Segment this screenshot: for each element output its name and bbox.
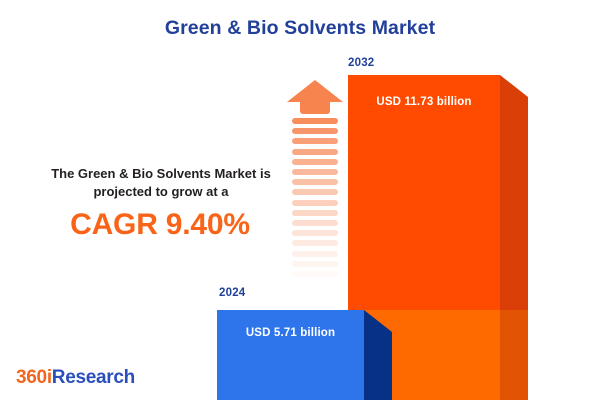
arrow-stripe — [292, 230, 338, 236]
arrow-stripe — [292, 261, 338, 267]
arrow-stripe — [292, 240, 338, 246]
arrow-head-neck — [300, 101, 330, 114]
arrow-stripe — [292, 251, 338, 257]
arrow-stripe — [292, 128, 338, 134]
logo-research: Research — [52, 367, 135, 388]
cagr-value: CAGR 9.40% — [18, 208, 286, 242]
bar-label-2032: 2032 — [348, 57, 374, 69]
bar-label-2024: 2024 — [219, 287, 245, 299]
bar-2024-face — [217, 310, 364, 400]
bar-value-2032: USD 11.73 billion — [348, 96, 500, 108]
arrow-head-icon — [287, 80, 343, 115]
infographic-canvas: Green & Bio Solvents Market The Green & … — [0, 0, 600, 400]
logo-360: 360 — [16, 367, 47, 388]
arrow-stripe — [292, 169, 338, 175]
caption-text: The Green & Bio Solvents Market is proje… — [18, 165, 286, 202]
arrow-stripe — [292, 179, 338, 185]
arrow-stripe — [292, 189, 338, 195]
bar-2024-side — [364, 310, 392, 400]
arrow-stripe — [292, 149, 338, 155]
growth-arrow-icon — [287, 80, 343, 292]
brand-logo: 360iResearch — [16, 367, 135, 389]
arrow-stripe — [292, 220, 338, 226]
bar-2032-side-lower-overlay — [500, 310, 528, 400]
bar-2024 — [217, 310, 392, 400]
arrow-stripe — [292, 159, 338, 165]
arrow-stripe — [292, 118, 338, 124]
arrow-stripe — [292, 271, 338, 277]
page-title: Green & Bio Solvents Market — [0, 17, 600, 40]
arrow-stripe — [292, 138, 338, 144]
bar-value-2024: USD 5.71 billion — [217, 327, 364, 339]
arrow-stripe — [292, 210, 338, 216]
arrow-stripe — [292, 200, 338, 206]
arrow-head-triangle — [287, 80, 343, 102]
caption-block: The Green & Bio Solvents Market is proje… — [18, 165, 286, 242]
arrow-stripe — [292, 281, 338, 287]
